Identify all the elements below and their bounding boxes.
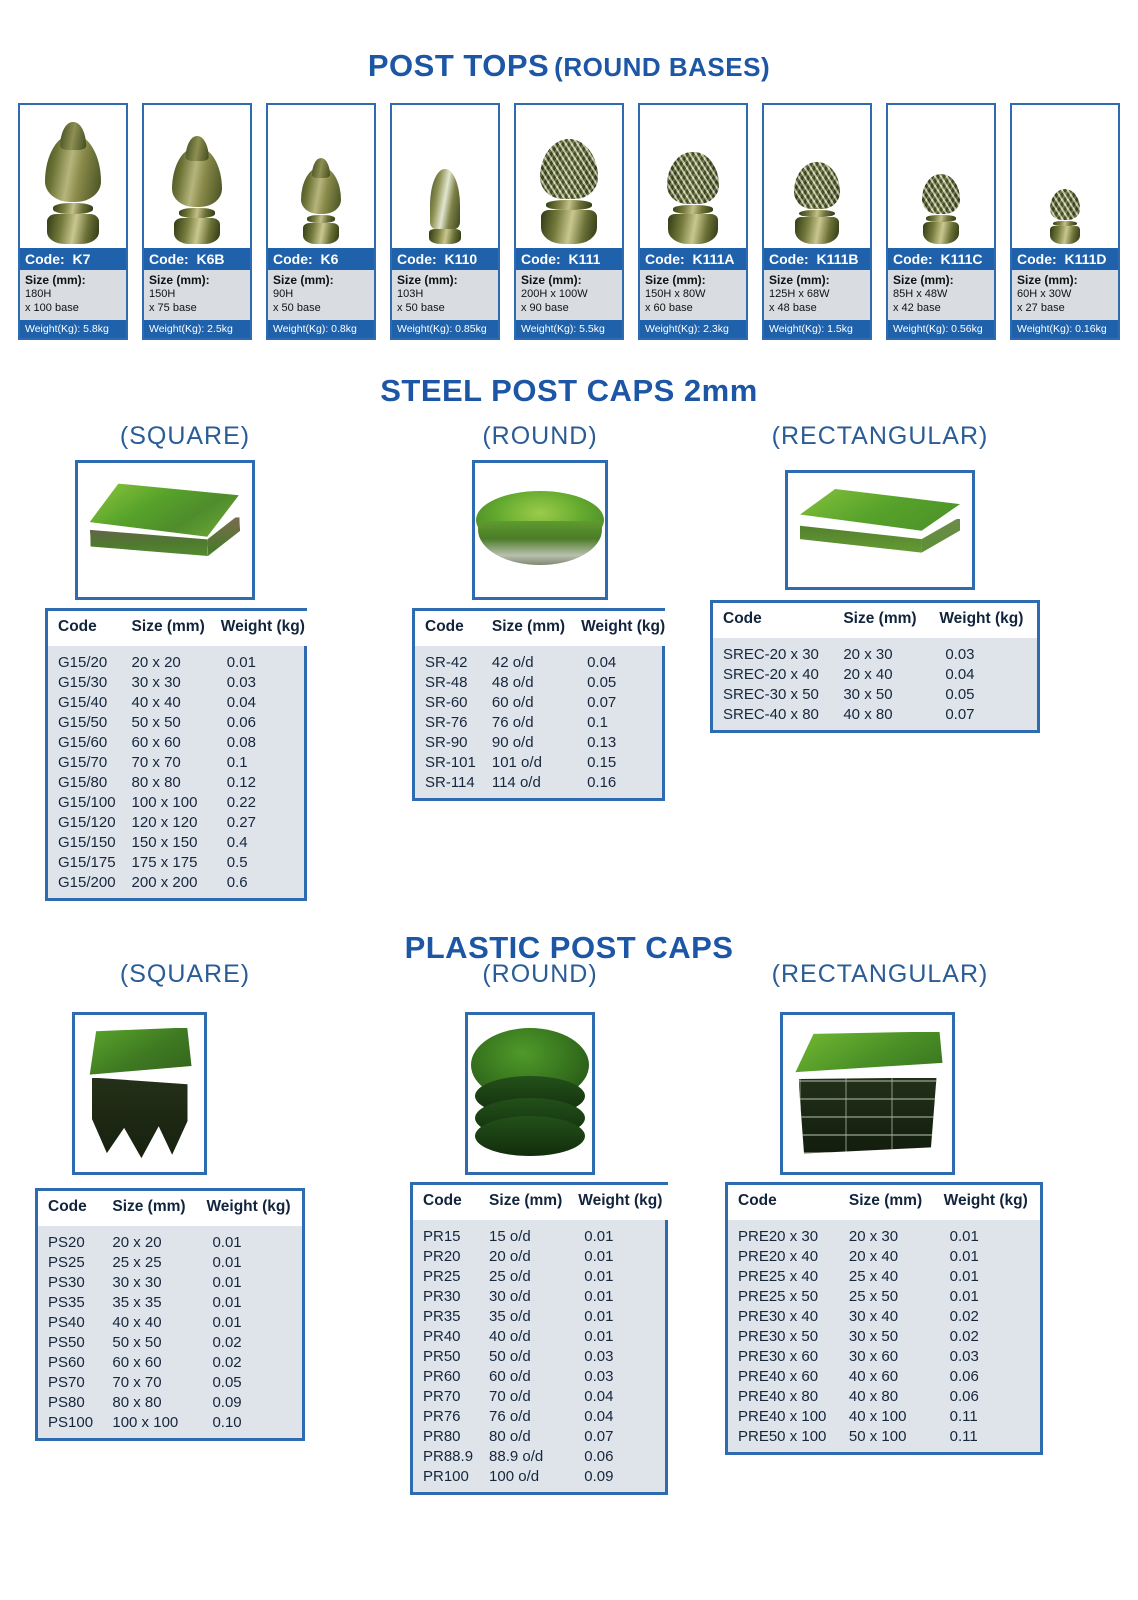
cell-code: G15/80 xyxy=(48,773,122,793)
table-header-row: Code Size (mm) Weight (kg) xyxy=(415,611,671,646)
cell-size: 42 o/d xyxy=(482,646,571,673)
post-top-size-block: Size (mm): 90H x 50 base xyxy=(268,270,374,320)
table-row: SR-114114 o/d0.16 xyxy=(415,773,671,799)
cell-size: 120 x 120 xyxy=(122,813,211,833)
cell-weight: 0.01 xyxy=(196,1273,302,1293)
cell-code: PR20 xyxy=(413,1247,479,1267)
cell-weight: 0.01 xyxy=(196,1253,302,1273)
table-row: PR5050 o/d0.03 xyxy=(413,1347,668,1367)
cell-code: PR15 xyxy=(413,1220,479,1247)
steel-round-table-grid: Code Size (mm) Weight (kg) SR-4242 o/d0.… xyxy=(415,611,671,798)
cell-weight: 0.01 xyxy=(934,1220,1040,1247)
cell-code: PS60 xyxy=(38,1353,102,1373)
table-row: SREC-20 x 3020 x 300.03 xyxy=(713,638,1037,665)
cell-code: PS70 xyxy=(38,1373,102,1393)
cell-size: 100 o/d xyxy=(479,1467,568,1493)
size-line-1: 103H xyxy=(397,288,423,300)
table-row: PS6060 x 600.02 xyxy=(38,1353,302,1373)
cell-size: 60 x 60 xyxy=(122,733,211,753)
size-line-1: 85H x 48W xyxy=(893,288,947,300)
post-top-image xyxy=(640,105,746,248)
table-row: PR2020 o/d0.01 xyxy=(413,1247,668,1267)
cell-code: PR88.9 xyxy=(413,1447,479,1467)
size-line-2: x 100 base xyxy=(25,302,79,314)
plastic-rectangular-table: Code Size (mm) Weight (kg) PRE20 x 3020 … xyxy=(725,1182,1043,1455)
code-value: K7 xyxy=(72,251,90,267)
cell-code: PR30 xyxy=(413,1287,479,1307)
code-label: Code: xyxy=(645,251,685,267)
bullet-finial-icon xyxy=(429,169,462,244)
cell-size: 70 x 70 xyxy=(102,1373,196,1393)
size-header: Size (mm): xyxy=(25,273,121,288)
cell-weight: 0.02 xyxy=(934,1327,1040,1347)
post-top-size-block: Size (mm): 200H x 100W x 90 base xyxy=(516,270,622,320)
post-top-weight-band: Weight(Kg): 2.3kg xyxy=(640,320,746,338)
cell-code: PR76 xyxy=(413,1407,479,1427)
size-header: Size (mm): xyxy=(1017,273,1113,288)
cell-size: 70 x 70 xyxy=(122,753,211,773)
post-top-card-k111[interactable]: Code: K111 Size (mm): 200H x 100W x 90 b… xyxy=(514,103,624,340)
size-line-1: 125H x 68W xyxy=(769,288,830,300)
table-row: PRE20 x 3020 x 300.01 xyxy=(728,1220,1040,1247)
cell-code: SR-76 xyxy=(415,713,482,733)
post-top-card-k7[interactable]: Code: K7 Size (mm): 180H x 100 base Weig… xyxy=(18,103,128,340)
col-size: Size (mm) xyxy=(122,611,211,646)
cell-size: 50 x 100 xyxy=(839,1427,934,1453)
cell-size: 30 x 30 xyxy=(122,673,211,693)
code-value: K111B xyxy=(816,251,858,267)
table-row: SR-9090 o/d0.13 xyxy=(415,733,671,753)
cell-weight: 0.06 xyxy=(934,1367,1040,1387)
size-line-1: 150H xyxy=(149,288,175,300)
cell-weight: 0.01 xyxy=(211,646,311,673)
cell-code: PRE30 x 50 xyxy=(728,1327,839,1347)
col-code: Code xyxy=(728,1185,839,1220)
cell-code: PS25 xyxy=(38,1253,102,1273)
cell-size: 20 x 20 xyxy=(102,1226,196,1253)
cell-size: 80 x 80 xyxy=(102,1393,196,1413)
code-value: K6B xyxy=(196,251,224,267)
cell-code: SR-48 xyxy=(415,673,482,693)
table-row: G15/3030 x 300.03 xyxy=(48,673,311,693)
cell-size: 20 x 40 xyxy=(839,1247,934,1267)
table-row: G15/5050 x 500.06 xyxy=(48,713,311,733)
cell-size: 48 o/d xyxy=(482,673,571,693)
table-row: G15/6060 x 600.08 xyxy=(48,733,311,753)
table-row: SR-7676 o/d0.1 xyxy=(415,713,671,733)
code-label: Code: xyxy=(273,251,313,267)
cell-size: 25 x 40 xyxy=(839,1267,934,1287)
cell-weight: 0.05 xyxy=(196,1373,302,1393)
cell-weight: 0.1 xyxy=(571,713,671,733)
post-tops-heading: POST TOPS (ROUND BASES) xyxy=(0,48,1138,84)
cell-code: PR70 xyxy=(413,1387,479,1407)
cell-size: 30 x 30 xyxy=(102,1273,196,1293)
table-header-row: Code Size (mm) Weight (kg) xyxy=(38,1191,302,1226)
cell-code: SR-60 xyxy=(415,693,482,713)
size-header: Size (mm): xyxy=(769,273,865,288)
size-header: Size (mm): xyxy=(645,273,741,288)
plastic-square-label: (SQUARE) xyxy=(45,960,325,989)
table-row: SR-101101 o/d0.15 xyxy=(415,753,671,773)
cell-code: PRE20 x 30 xyxy=(728,1220,839,1247)
post-top-size-block: Size (mm): 180H x 100 base xyxy=(20,270,126,320)
cell-weight: 0.27 xyxy=(211,813,311,833)
col-size: Size (mm) xyxy=(482,611,571,646)
table-row: PR3535 o/d0.01 xyxy=(413,1307,668,1327)
cell-weight: 0.01 xyxy=(196,1313,302,1333)
cell-size: 40 x 60 xyxy=(839,1367,934,1387)
cell-code: PS80 xyxy=(38,1393,102,1413)
cell-weight: 0.01 xyxy=(934,1287,1040,1307)
cell-size: 80 x 80 xyxy=(122,773,211,793)
cell-code: PS30 xyxy=(38,1273,102,1293)
post-top-image xyxy=(1012,105,1118,248)
code-value: K111C xyxy=(940,251,982,267)
col-weight: Weight (kg) xyxy=(929,603,1037,638)
cell-weight: 0.13 xyxy=(571,733,671,753)
plastic-square-image-frame xyxy=(72,1012,207,1175)
plastic-round-cap-image xyxy=(471,1028,589,1160)
table-row: SR-4848 o/d0.05 xyxy=(415,673,671,693)
plastic-rectangular-cap-image xyxy=(793,1032,943,1156)
cell-weight: 0.01 xyxy=(196,1226,302,1253)
cell-weight: 0.07 xyxy=(568,1427,668,1447)
cell-weight: 0.01 xyxy=(934,1247,1040,1267)
cell-weight: 0.03 xyxy=(929,638,1037,665)
cell-code: G15/70 xyxy=(48,753,122,773)
cell-weight: 0.05 xyxy=(571,673,671,693)
size-line-1: 60H x 30W xyxy=(1017,288,1071,300)
steel-square-image-frame xyxy=(75,460,255,600)
post-top-image xyxy=(268,105,374,248)
cell-size: 30 x 50 xyxy=(839,1327,934,1347)
cell-size: 114 o/d xyxy=(482,773,571,799)
cell-size: 30 o/d xyxy=(479,1287,568,1307)
cell-code: PS20 xyxy=(38,1226,102,1253)
cell-weight: 0.01 xyxy=(568,1307,668,1327)
code-value: K111A xyxy=(692,251,734,267)
table-row: SREC-20 x 4020 x 400.04 xyxy=(713,665,1037,685)
cell-weight: 0.06 xyxy=(211,713,311,733)
cell-size: 175 x 175 xyxy=(122,853,211,873)
post-top-weight-band: Weight(Kg): 0.8kg xyxy=(268,320,374,338)
cell-size: 76 o/d xyxy=(482,713,571,733)
post-top-weight-band: Weight(Kg): 2.5kg xyxy=(144,320,250,338)
cell-weight: 0.22 xyxy=(211,793,311,813)
size-line-2: x 60 base xyxy=(645,302,693,314)
cell-size: 35 o/d xyxy=(479,1307,568,1327)
post-top-weight-band: Weight(Kg): 5.5kg xyxy=(516,320,622,338)
plastic-round-table-grid: Code Size (mm) Weight (kg) PR1515 o/d0.0… xyxy=(413,1185,668,1492)
cell-weight: 0.06 xyxy=(934,1387,1040,1407)
plastic-square-table-grid: Code Size (mm) Weight (kg) PS2020 x 200.… xyxy=(38,1191,302,1438)
steel-round-cap-image xyxy=(476,491,604,569)
size-line-2: x 42 base xyxy=(893,302,941,314)
steel-round-table: Code Size (mm) Weight (kg) SR-4242 o/d0.… xyxy=(412,608,665,801)
cell-size: 30 x 60 xyxy=(839,1347,934,1367)
table-row: PR2525 o/d0.01 xyxy=(413,1267,668,1287)
table-header-row: Code Size (mm) Weight (kg) xyxy=(728,1185,1040,1220)
cell-code: G15/120 xyxy=(48,813,122,833)
table-row: PR6060 o/d0.03 xyxy=(413,1367,668,1387)
cell-code: SREC-30 x 50 xyxy=(713,685,833,705)
table-row: SREC-30 x 5030 x 500.05 xyxy=(713,685,1037,705)
cell-code: PS50 xyxy=(38,1333,102,1353)
cell-size: 20 x 20 xyxy=(122,646,211,673)
table-row: PR100100 o/d0.09 xyxy=(413,1467,668,1493)
cell-code: G15/175 xyxy=(48,853,122,873)
acorn-finial-icon xyxy=(172,147,221,244)
col-code: Code xyxy=(415,611,482,646)
table-row: G15/175175 x 1750.5 xyxy=(48,853,311,873)
steel-square-table-grid: Code Size (mm) Weight (kg) G15/2020 x 20… xyxy=(48,611,311,898)
steel-round-label: (ROUND) xyxy=(400,422,680,451)
post-top-code-band: Code: K110 xyxy=(392,248,498,270)
size-line-1: 180H xyxy=(25,288,51,300)
post-top-size-block: Size (mm): 103H x 50 base xyxy=(392,270,498,320)
cell-weight: 0.12 xyxy=(211,773,311,793)
cell-weight: 0.01 xyxy=(196,1293,302,1313)
cell-size: 30 x 50 xyxy=(833,685,929,705)
post-top-image xyxy=(516,105,622,248)
cell-code: SR-101 xyxy=(415,753,482,773)
table-row: G15/8080 x 800.12 xyxy=(48,773,311,793)
cell-weight: 0.07 xyxy=(571,693,671,713)
table-row: G15/4040 x 400.04 xyxy=(48,693,311,713)
table-row: PR7070 o/d0.04 xyxy=(413,1387,668,1407)
cell-size: 40 x 80 xyxy=(833,705,929,731)
table-row: PRE20 x 4020 x 400.01 xyxy=(728,1247,1040,1267)
cell-code: PRE25 x 50 xyxy=(728,1287,839,1307)
cell-size: 40 x 40 xyxy=(122,693,211,713)
cell-size: 20 x 30 xyxy=(839,1220,934,1247)
cell-size: 60 x 60 xyxy=(102,1353,196,1373)
col-size: Size (mm) xyxy=(839,1185,934,1220)
post-tops-card-row: Code: K7 Size (mm): 180H x 100 base Weig… xyxy=(0,103,1138,340)
post-top-code-band: Code: K111B xyxy=(764,248,870,270)
size-line-1: 200H x 100W xyxy=(521,288,588,300)
cell-size: 40 x 100 xyxy=(839,1407,934,1427)
cell-size: 30 x 40 xyxy=(839,1307,934,1327)
acorn-finial-icon xyxy=(45,134,101,244)
post-top-weight-band: Weight(Kg): 0.56kg xyxy=(888,320,994,338)
post-top-image xyxy=(392,105,498,248)
table-row: PRE25 x 4025 x 400.01 xyxy=(728,1267,1040,1287)
cell-code: PRE50 x 100 xyxy=(728,1427,839,1453)
cell-weight: 0.04 xyxy=(929,665,1037,685)
steel-square-table: Code Size (mm) Weight (kg) G15/2020 x 20… xyxy=(45,608,307,901)
cell-size: 40 o/d xyxy=(479,1327,568,1347)
post-top-code-band: Code: K6 xyxy=(268,248,374,270)
cell-size: 40 x 40 xyxy=(102,1313,196,1333)
cell-size: 150 x 150 xyxy=(122,833,211,853)
cell-size: 70 o/d xyxy=(479,1387,568,1407)
table-header-row: Code Size (mm) Weight (kg) xyxy=(413,1185,668,1220)
table-row: PR4040 o/d0.01 xyxy=(413,1327,668,1347)
post-top-card-k6b[interactable]: Code: K6B Size (mm): 150H x 75 base Weig… xyxy=(142,103,252,340)
cell-code: PS35 xyxy=(38,1293,102,1313)
cell-size: 25 o/d xyxy=(479,1267,568,1287)
post-top-code-band: Code: K6B xyxy=(144,248,250,270)
cell-code: PRE30 x 60 xyxy=(728,1347,839,1367)
table-row: G15/200200 x 2000.6 xyxy=(48,873,311,899)
cell-code: PR40 xyxy=(413,1327,479,1347)
post-top-card-k110[interactable]: Code: K110 Size (mm): 103H x 50 base Wei… xyxy=(390,103,500,340)
cell-weight: 0.04 xyxy=(568,1387,668,1407)
cell-code: PRE40 x 100 xyxy=(728,1407,839,1427)
table-row: PS3535 x 350.01 xyxy=(38,1293,302,1313)
table-row: PRE30 x 5030 x 500.02 xyxy=(728,1327,1040,1347)
cell-weight: 0.06 xyxy=(568,1447,668,1467)
table-row: G15/120120 x 1200.27 xyxy=(48,813,311,833)
table-row: PR7676 o/d0.04 xyxy=(413,1407,668,1427)
cell-code: G15/50 xyxy=(48,713,122,733)
code-value: K111D xyxy=(1064,251,1106,267)
table-row: PS3030 x 300.01 xyxy=(38,1273,302,1293)
table-row: PS7070 x 700.05 xyxy=(38,1373,302,1393)
cell-code: G15/100 xyxy=(48,793,122,813)
cell-code: PRE40 x 60 xyxy=(728,1367,839,1387)
cell-size: 15 o/d xyxy=(479,1220,568,1247)
pinecone-finial-icon xyxy=(922,174,960,244)
cell-code: G15/150 xyxy=(48,833,122,853)
cell-size: 200 x 200 xyxy=(122,873,211,899)
plastic-round-table: Code Size (mm) Weight (kg) PR1515 o/d0.0… xyxy=(410,1182,668,1495)
steel-rectangular-table-grid: Code Size (mm) Weight (kg) SREC-20 x 302… xyxy=(713,603,1037,730)
plastic-rectangular-label: (RECTANGULAR) xyxy=(720,960,1040,989)
cell-size: 20 o/d xyxy=(479,1247,568,1267)
post-top-code-band: Code: K111D xyxy=(1012,248,1118,270)
code-label: Code: xyxy=(1017,251,1057,267)
table-row: PRE40 x 8040 x 800.06 xyxy=(728,1387,1040,1407)
col-weight: Weight (kg) xyxy=(568,1185,668,1220)
cell-weight: 0.01 xyxy=(568,1267,668,1287)
table-row: PR3030 o/d0.01 xyxy=(413,1287,668,1307)
cell-size: 90 o/d xyxy=(482,733,571,753)
table-row: PR88.988.9 o/d0.06 xyxy=(413,1447,668,1467)
pinecone-finial-icon xyxy=(540,139,598,244)
table-row: G15/100100 x 1000.22 xyxy=(48,793,311,813)
post-top-image xyxy=(888,105,994,248)
plastic-rectangular-image-frame xyxy=(780,1012,955,1175)
cell-code: PRE30 x 40 xyxy=(728,1307,839,1327)
cell-weight: 0.09 xyxy=(568,1467,668,1493)
post-top-card-k111d[interactable]: Code: K111D Size (mm): 60H x 30W x 27 ba… xyxy=(1010,103,1120,340)
cell-size: 20 x 30 xyxy=(833,638,929,665)
cell-code: PR100 xyxy=(413,1467,479,1493)
post-top-code-band: Code: K111 xyxy=(516,248,622,270)
post-top-code-band: Code: K111A xyxy=(640,248,746,270)
cell-code: PR80 xyxy=(413,1427,479,1447)
plastic-rectangular-table-grid: Code Size (mm) Weight (kg) PRE20 x 3020 … xyxy=(728,1185,1040,1452)
cell-code: PR60 xyxy=(413,1367,479,1387)
cell-weight: 0.01 xyxy=(568,1220,668,1247)
cell-weight: 0.6 xyxy=(211,873,311,899)
cell-size: 80 o/d xyxy=(479,1427,568,1447)
cell-weight: 0.03 xyxy=(934,1347,1040,1367)
steel-square-label: (SQUARE) xyxy=(45,422,325,451)
post-top-size-block: Size (mm): 150H x 80W x 60 base xyxy=(640,270,746,320)
cell-code: PRE20 x 40 xyxy=(728,1247,839,1267)
table-row: PRE30 x 6030 x 600.03 xyxy=(728,1347,1040,1367)
post-top-size-block: Size (mm): 125H x 68W x 48 base xyxy=(764,270,870,320)
acorn-finial-icon xyxy=(301,167,340,244)
cell-weight: 0.02 xyxy=(934,1307,1040,1327)
cell-code: PS40 xyxy=(38,1313,102,1333)
cell-size: 25 x 25 xyxy=(102,1253,196,1273)
cell-weight: 0.01 xyxy=(568,1327,668,1347)
table-row: PRE50 x 10050 x 1000.11 xyxy=(728,1427,1040,1453)
post-top-weight-band: Weight(Kg): 1.5kg xyxy=(764,320,870,338)
code-label: Code: xyxy=(769,251,809,267)
col-size: Size (mm) xyxy=(479,1185,568,1220)
size-header: Size (mm): xyxy=(397,273,493,288)
table-row: PR1515 o/d0.01 xyxy=(413,1220,668,1247)
code-label: Code: xyxy=(893,251,933,267)
table-row: PS8080 x 800.09 xyxy=(38,1393,302,1413)
post-tops-title-main: POST TOPS xyxy=(368,48,549,83)
steel-square-cap-image xyxy=(88,479,241,580)
cell-code: PR50 xyxy=(413,1347,479,1367)
cell-weight: 0.10 xyxy=(196,1413,302,1439)
table-row: PS5050 x 500.02 xyxy=(38,1333,302,1353)
cell-code: PR35 xyxy=(413,1307,479,1327)
cell-weight: 0.01 xyxy=(568,1247,668,1267)
col-code: Code xyxy=(413,1185,479,1220)
cell-size: 100 x 100 xyxy=(122,793,211,813)
col-weight: Weight (kg) xyxy=(211,611,311,646)
cell-weight: 0.05 xyxy=(929,685,1037,705)
plastic-round-label: (ROUND) xyxy=(400,960,680,989)
cell-weight: 0.11 xyxy=(934,1407,1040,1427)
cell-size: 101 o/d xyxy=(482,753,571,773)
cell-code: PRE25 x 40 xyxy=(728,1267,839,1287)
table-row: PS2525 x 250.01 xyxy=(38,1253,302,1273)
table-row: SR-4242 o/d0.04 xyxy=(415,646,671,673)
post-top-image xyxy=(144,105,250,248)
cell-weight: 0.03 xyxy=(568,1367,668,1387)
cell-weight: 0.4 xyxy=(211,833,311,853)
table-row: G15/7070 x 700.1 xyxy=(48,753,311,773)
post-top-card-k111a[interactable]: Code: K111A Size (mm): 150H x 80W x 60 b… xyxy=(638,103,748,340)
size-line-2: x 27 base xyxy=(1017,302,1065,314)
cell-weight: 0.01 xyxy=(934,1267,1040,1287)
col-code: Code xyxy=(713,603,833,638)
cell-code: PR25 xyxy=(413,1267,479,1287)
code-value: K111 xyxy=(568,251,600,267)
col-weight: Weight (kg) xyxy=(934,1185,1040,1220)
post-top-card-k111c[interactable]: Code: K111C Size (mm): 85H x 48W x 42 ba… xyxy=(886,103,996,340)
table-row: PS100100 x 1000.10 xyxy=(38,1413,302,1439)
code-label: Code: xyxy=(149,251,189,267)
code-label: Code: xyxy=(397,251,437,267)
cell-weight: 0.03 xyxy=(211,673,311,693)
cell-size: 50 x 50 xyxy=(122,713,211,733)
cell-code: SR-42 xyxy=(415,646,482,673)
cell-code: G15/20 xyxy=(48,646,122,673)
steel-post-caps-title: STEEL POST CAPS 2mm xyxy=(380,373,758,408)
cell-weight: 0.5 xyxy=(211,853,311,873)
size-header: Size (mm): xyxy=(273,273,369,288)
cell-weight: 0.01 xyxy=(568,1287,668,1307)
post-top-card-k111b[interactable]: Code: K111B Size (mm): 125H x 68W x 48 b… xyxy=(762,103,872,340)
table-row: PRE30 x 4030 x 400.02 xyxy=(728,1307,1040,1327)
table-header-row: Code Size (mm) Weight (kg) xyxy=(713,603,1037,638)
post-top-card-k6[interactable]: Code: K6 Size (mm): 90H x 50 base Weight… xyxy=(266,103,376,340)
steel-rectangular-table: Code Size (mm) Weight (kg) SREC-20 x 302… xyxy=(710,600,1040,733)
size-header: Size (mm): xyxy=(521,273,617,288)
